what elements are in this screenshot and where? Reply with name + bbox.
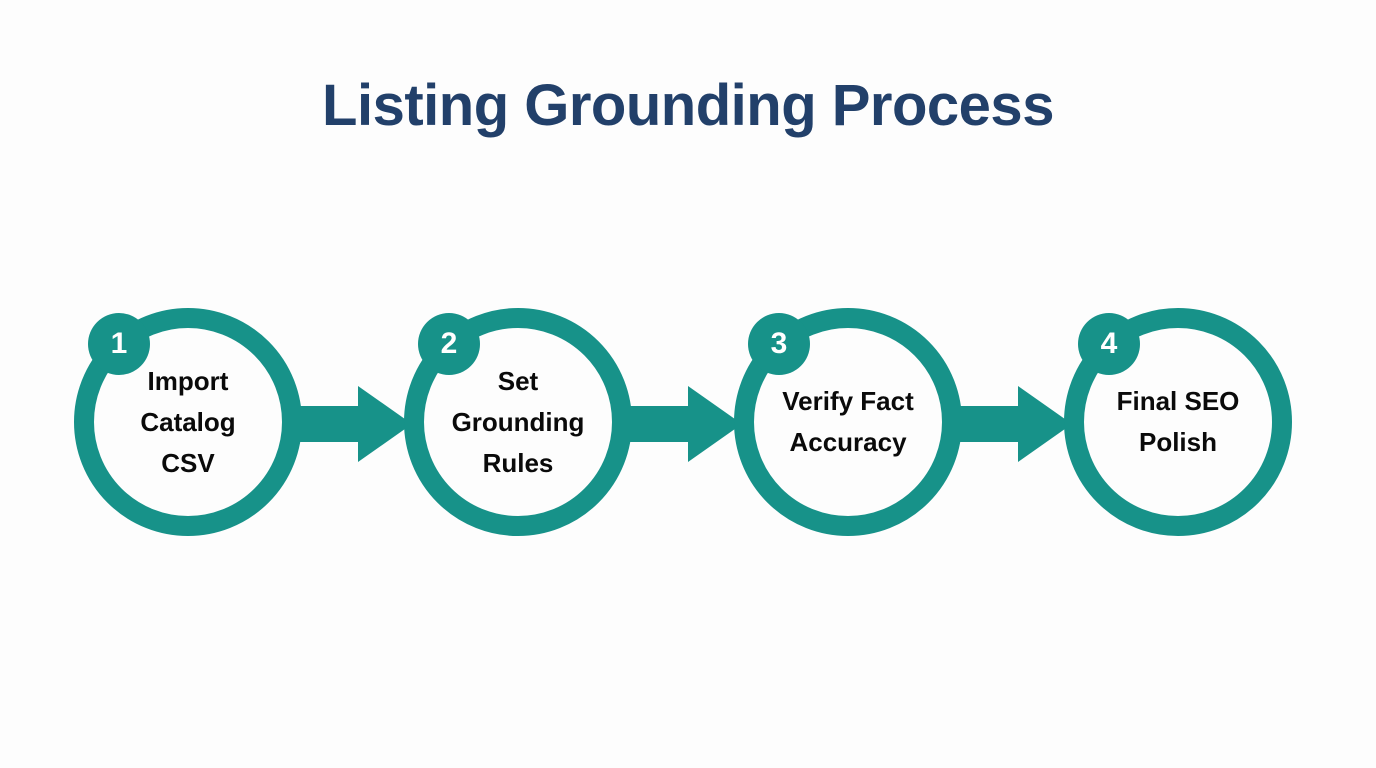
step-number-badge: 2 — [418, 313, 480, 375]
page-title: Listing Grounding Process — [0, 74, 1376, 138]
process-step-4[interactable]: Final SEO Polish 4 — [1064, 296, 1292, 552]
process-step-3[interactable]: Verify Fact Accuracy 3 — [734, 296, 962, 552]
arrow-right-icon — [956, 384, 1072, 464]
connector-arrow-2-3 — [626, 384, 742, 464]
process-step-2[interactable]: Set Grounding Rules 2 — [404, 296, 632, 552]
connector-arrow-3-4 — [956, 384, 1072, 464]
arrow-right-icon — [626, 384, 742, 464]
arrow-right-icon — [296, 384, 412, 464]
step-number-badge: 4 — [1078, 313, 1140, 375]
connector-arrow-1-2 — [296, 384, 412, 464]
process-step-1[interactable]: Import Catalog CSV 1 — [74, 296, 302, 552]
diagram-canvas: Listing Grounding Process Import Catalog… — [0, 0, 1376, 768]
step-number-badge: 1 — [88, 313, 150, 375]
process-flow: Import Catalog CSV 1 Set Grounding Rules… — [0, 296, 1376, 552]
step-number-badge: 3 — [748, 313, 810, 375]
